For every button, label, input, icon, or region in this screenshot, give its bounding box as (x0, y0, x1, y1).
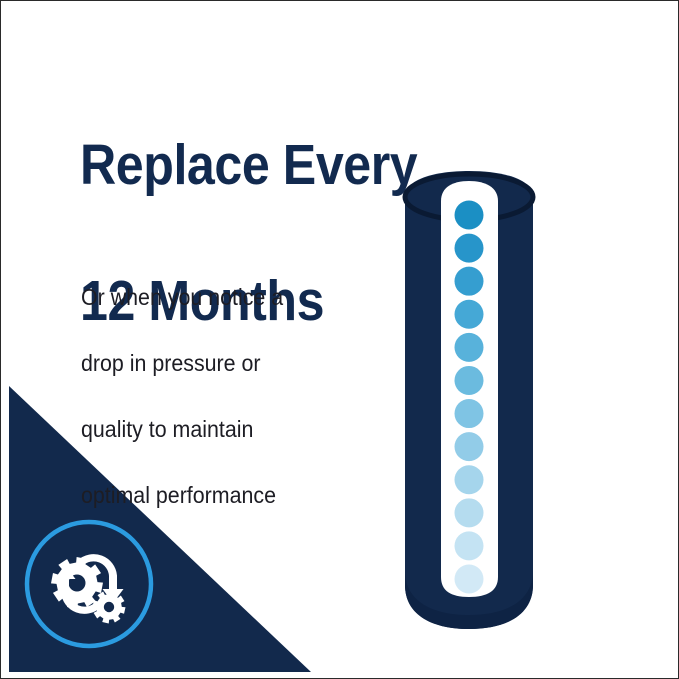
subtitle-line-3: quality to maintain (81, 413, 360, 446)
cartridge-dot (455, 565, 484, 594)
cartridge-dot (455, 333, 484, 362)
cartridge-dot (455, 234, 484, 263)
subtitle-line-1: Or when you notice a (81, 281, 360, 314)
cartridge-dot (455, 366, 484, 395)
cartridge-dot (455, 465, 484, 494)
subcopy-accessible-text: Or when you notice a drop in pressure or… (1, 1, 2, 2)
cartridge-dot (455, 531, 484, 560)
cartridge-dot (455, 201, 484, 230)
cartridge-dot (455, 432, 484, 461)
replace-cycle-badge (19, 513, 159, 655)
subtitle-text: Or when you notice a drop in pressure or… (81, 248, 360, 545)
small-gear-icon (93, 591, 126, 624)
page-title-line-1: Replace Every (80, 131, 432, 199)
cartridge-dot (455, 300, 484, 329)
headline-accessible-text: Replace Every 12 Months (1, 1, 2, 2)
subtitle-line-4: optimal performance (81, 479, 360, 512)
water-filter-cartridge-illustration (397, 167, 541, 637)
poster-canvas: Replace Every 12 Months Or when you noti… (0, 0, 679, 679)
cartridge-dot (455, 267, 484, 296)
cartridge-dot (455, 399, 484, 428)
subtitle-line-2: drop in pressure or (81, 347, 360, 380)
cartridge-dot (455, 498, 484, 527)
